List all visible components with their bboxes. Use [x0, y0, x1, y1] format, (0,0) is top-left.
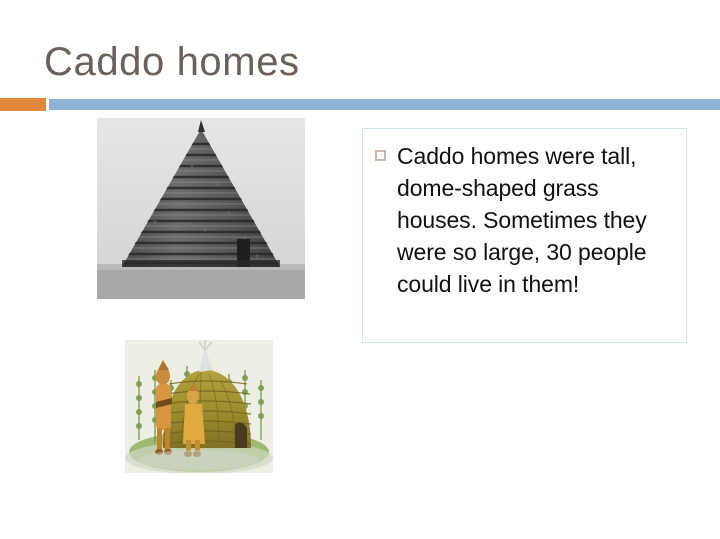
orange-accent-block — [0, 98, 46, 111]
hollow-square-bullet-icon — [375, 150, 386, 161]
dome-house-illustration — [125, 340, 273, 473]
bullet-item-label: Caddo homes were tall, dome-shaped grass… — [397, 140, 680, 300]
page-title: Caddo homes — [44, 40, 300, 84]
content-text-box[interactable]: Caddo homes were tall, dome-shaped grass… — [362, 128, 687, 343]
grass-house-photo — [97, 118, 305, 299]
blue-accent-bar — [49, 99, 720, 110]
bullet-list-item: Caddo homes were tall, dome-shaped grass… — [375, 140, 680, 300]
presentation-slide: Caddo homes — [0, 0, 720, 539]
